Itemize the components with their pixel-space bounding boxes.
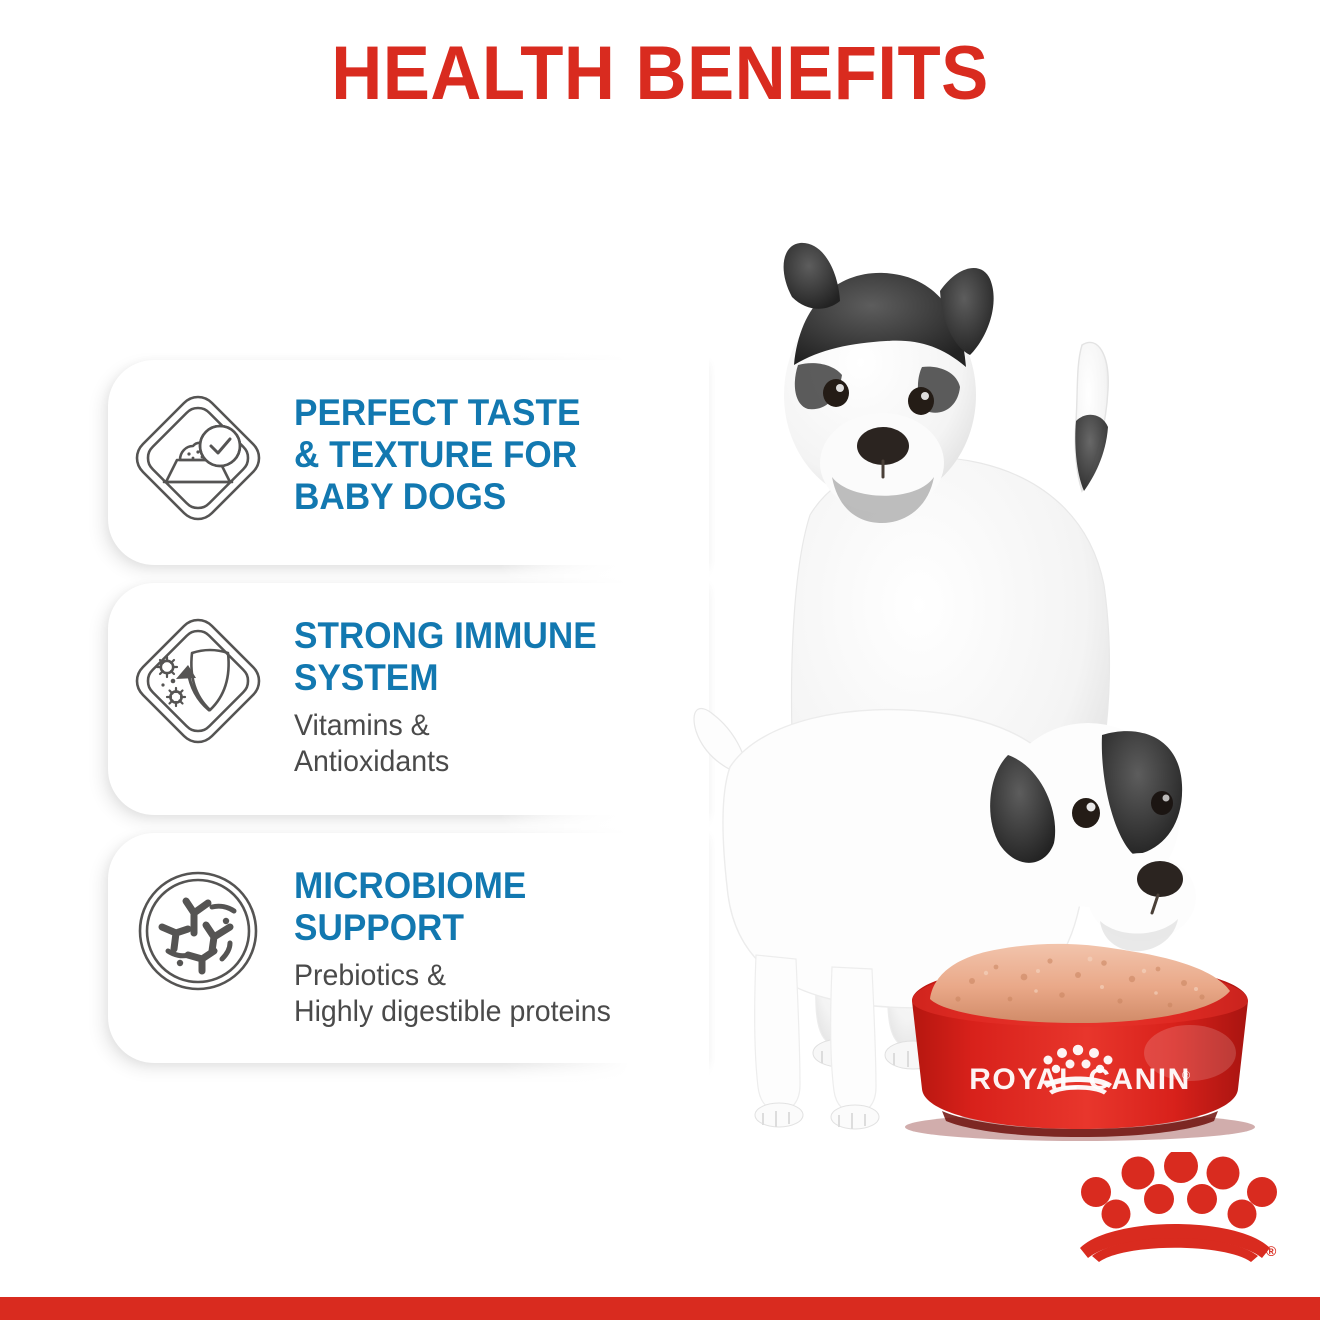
svg-text:®: ® [1266, 1243, 1277, 1259]
microbiome-petri-icon [130, 863, 266, 999]
benefit-card-strong-immune-system: STRONG IMMUNE SYSTEM Vitamins & Antioxid… [108, 583, 708, 815]
dog-photo: ROYAL CANIN ® [690, 215, 1310, 1145]
shield-immunity-icon [130, 613, 266, 749]
benefit-card-perfect-taste: PERFECT TASTE & TEXTURE FOR BABY DOGS [108, 360, 708, 565]
benefit-text-block: PERFECT TASTE & TEXTURE FOR BABY DOGS [294, 376, 596, 528]
benefit-text-block: STRONG IMMUNE SYSTEM Vitamins & Antioxid… [294, 599, 613, 780]
benefit-subtext: Vitamins & Antioxidants [294, 708, 597, 780]
svg-text:ROYAL CANIN: ROYAL CANIN [969, 1063, 1191, 1096]
health-benefits-page: HEALTH BENEFITS [0, 0, 1320, 1320]
benefit-heading: STRONG IMMUNE SYSTEM [294, 615, 597, 699]
benefit-heading: MICROBIOME SUPPORT [294, 865, 611, 949]
benefit-card-microbiome-support: MICROBIOME SUPPORT Prebiotics & Highly d… [108, 833, 708, 1063]
benefit-text-block: MICROBIOME SUPPORT Prebiotics & Highly d… [294, 849, 628, 1030]
page-title: HEALTH BENEFITS [46, 36, 1274, 112]
svg-text:®: ® [1182, 1070, 1190, 1082]
royal-canin-crown-logo: ® [1070, 1152, 1280, 1262]
benefit-subtext: Prebiotics & Highly digestible proteins [294, 958, 611, 1030]
benefits-list: PERFECT TASTE & TEXTURE FOR BABY DOGS [108, 360, 708, 1081]
bowl-check-icon [130, 390, 266, 526]
benefit-heading: PERFECT TASTE & TEXTURE FOR BABY DOGS [294, 392, 580, 519]
bottom-accent-bar [0, 1297, 1320, 1320]
